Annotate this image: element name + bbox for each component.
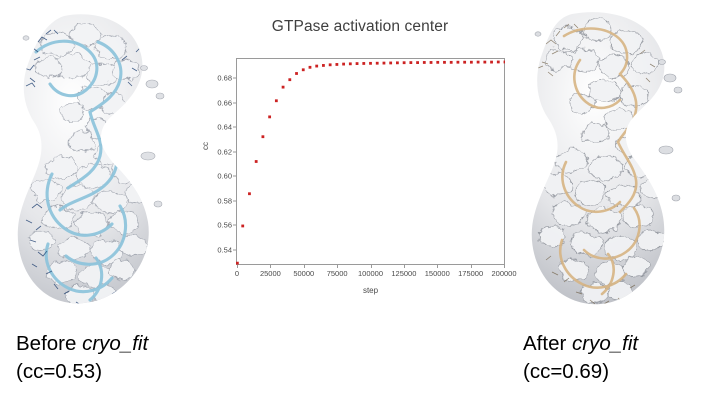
data-point	[490, 61, 493, 64]
before-cryo-fit-structure	[2, 8, 202, 320]
data-point	[255, 160, 258, 163]
caption-before-prefix: Before	[16, 332, 82, 355]
data-point	[463, 61, 466, 64]
data-point	[342, 63, 345, 66]
data-point	[362, 62, 365, 65]
x-axis-tick-label: 150000	[425, 269, 450, 278]
caption-before-tool: cryo_fit	[82, 332, 148, 355]
data-point	[262, 135, 265, 138]
data-point	[288, 78, 291, 81]
data-point	[329, 63, 332, 66]
data-point	[457, 61, 460, 64]
data-point	[497, 61, 500, 64]
after-cryo-fit-structure	[518, 8, 718, 320]
y-axis-label: cc	[201, 142, 210, 150]
chart-title: GTPase activation center	[205, 18, 515, 36]
x-axis-tick-label: 175000	[458, 269, 483, 278]
data-point	[275, 99, 278, 102]
data-point	[403, 61, 406, 64]
data-point	[423, 61, 426, 64]
data-point	[389, 62, 392, 65]
x-axis-label: step	[236, 286, 505, 295]
data-point	[443, 61, 446, 64]
plot-series-markers	[236, 58, 505, 265]
caption-before-cc: (cc=0.53)	[16, 358, 148, 386]
data-point	[356, 62, 359, 65]
data-point	[483, 61, 486, 64]
after-structure-render	[518, 8, 718, 320]
cc-vs-step-chart: GTPase activation center 0.540.560.580.6…	[205, 10, 515, 300]
data-point	[268, 115, 271, 118]
data-point	[248, 192, 251, 195]
data-point	[315, 65, 318, 68]
x-axis-tick-label: 100000	[358, 269, 383, 278]
data-point	[409, 61, 412, 64]
density-map-before	[2, 8, 202, 320]
data-point	[504, 61, 505, 64]
caption-after: After cryo_fit (cc=0.69)	[523, 330, 638, 386]
x-axis-tick-label: 75000	[327, 269, 348, 278]
x-axis-tick-label: 0	[235, 269, 239, 278]
data-point	[282, 86, 285, 89]
before-structure-render	[2, 8, 202, 320]
x-axis-tick-label: 125000	[391, 269, 416, 278]
caption-after-prefix: After	[523, 332, 572, 355]
x-axis-tick-label: 25000	[260, 269, 281, 278]
data-point	[416, 61, 419, 64]
caption-after-tool: cryo_fit	[572, 332, 638, 355]
data-point	[376, 62, 379, 65]
data-point	[436, 61, 439, 64]
data-point	[295, 72, 298, 75]
data-point	[241, 225, 244, 228]
data-point	[383, 62, 386, 65]
data-point	[349, 62, 352, 65]
data-point	[369, 62, 372, 65]
data-point	[477, 61, 480, 64]
data-point	[236, 262, 239, 265]
data-point	[335, 63, 338, 66]
data-point	[309, 66, 312, 69]
density-map-after	[518, 8, 718, 320]
x-axis-tick-label: 200000	[491, 269, 516, 278]
data-point	[470, 61, 473, 64]
caption-before: Before cryo_fit (cc=0.53)	[16, 330, 148, 386]
data-point	[430, 61, 433, 64]
data-point	[302, 68, 305, 71]
data-point	[450, 61, 453, 64]
caption-after-cc: (cc=0.69)	[523, 358, 638, 386]
x-axis-tick-label: 50000	[293, 269, 314, 278]
data-point	[396, 61, 399, 64]
data-point	[322, 64, 325, 67]
